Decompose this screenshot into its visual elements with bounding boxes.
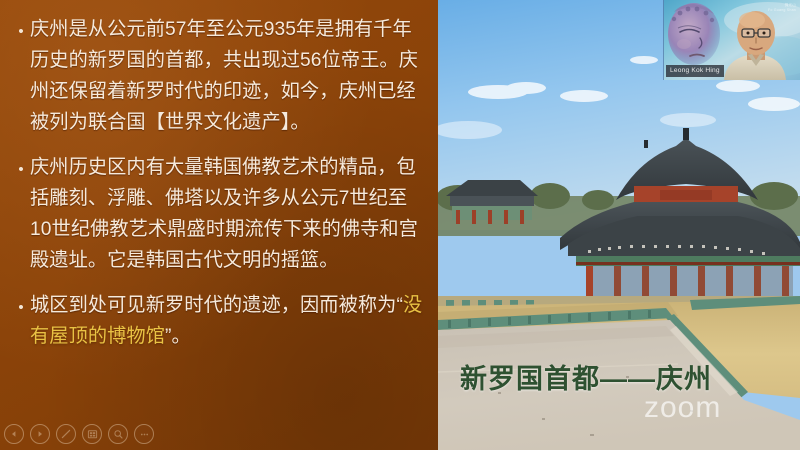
slide-text-panel: 庆州是从公元前57年至公元935年是拥有千年历史的新罗国的首都，共出现过56位帝…	[0, 0, 438, 450]
bullet-item-1: 庆州是从公元前57年至公元935年是拥有千年历史的新罗国的首都，共出现过56位帝…	[12, 14, 426, 138]
previous-page-button[interactable]	[4, 424, 24, 444]
more-options-button[interactable]	[134, 424, 154, 444]
webcam-pip-panel[interactable]: 佛光山 Fo Guang Shan Leong Kok Hing	[663, 0, 800, 80]
bullet-text-3: 城区到处可见新罗时代的遗迹，因而被称为“没有屋顶的博物馆”。	[30, 290, 426, 352]
pip-watermark-line-2: Fo Guang Shan	[768, 8, 796, 13]
bullet-text-2: 庆州历史区内有大量韩国佛教艺术的精品，包括雕刻、浮雕、佛塔以及许多从公元7世纪至…	[30, 152, 426, 276]
magnifier-icon	[113, 429, 124, 440]
zoom-watermark: zoom	[644, 393, 721, 423]
pip-corner-watermark: 佛光山 Fo Guang Shan	[768, 3, 796, 14]
bullet-marker-icon	[12, 14, 30, 39]
reader-toolbar	[4, 424, 154, 444]
bullet-marker-icon	[12, 152, 30, 177]
annotate-pen-button[interactable]	[56, 424, 76, 444]
slide-grid-button[interactable]	[82, 424, 102, 444]
pen-icon	[60, 428, 72, 440]
bullet-marker-icon	[12, 290, 30, 315]
bullet-text-3-after: ”。	[165, 326, 191, 347]
presentation-slide-screen: 庆州是从公元前57年至公元935年是拥有千年历史的新罗国的首都，共出现过56位帝…	[0, 0, 800, 450]
bullet-item-2: 庆州历史区内有大量韩国佛教艺术的精品，包括雕刻、浮雕、佛塔以及许多从公元7世纪至…	[12, 152, 426, 276]
participant-name-label: Leong Kok Hing	[666, 65, 724, 77]
next-page-button[interactable]	[30, 424, 50, 444]
bullet-text-1: 庆州是从公元前57年至公元935年是拥有千年历史的新罗国的首都，共出现过56位帝…	[30, 14, 426, 138]
triangle-left-icon	[10, 430, 18, 438]
triangle-right-icon	[36, 430, 44, 438]
zoom-search-button[interactable]	[108, 424, 128, 444]
grid-icon	[87, 429, 98, 440]
bullet-item-3: 城区到处可见新罗时代的遗迹，因而被称为“没有屋顶的博物馆”。	[12, 290, 426, 352]
buddha-face-graphic	[668, 3, 720, 65]
distant-pavilion	[446, 180, 538, 224]
photo-caption: 新罗国首都——庆州	[460, 366, 712, 393]
bullet-text-3-before: 城区到处可见新罗时代的遗迹，因而被称为“	[30, 295, 403, 316]
ellipsis-icon	[139, 429, 150, 440]
